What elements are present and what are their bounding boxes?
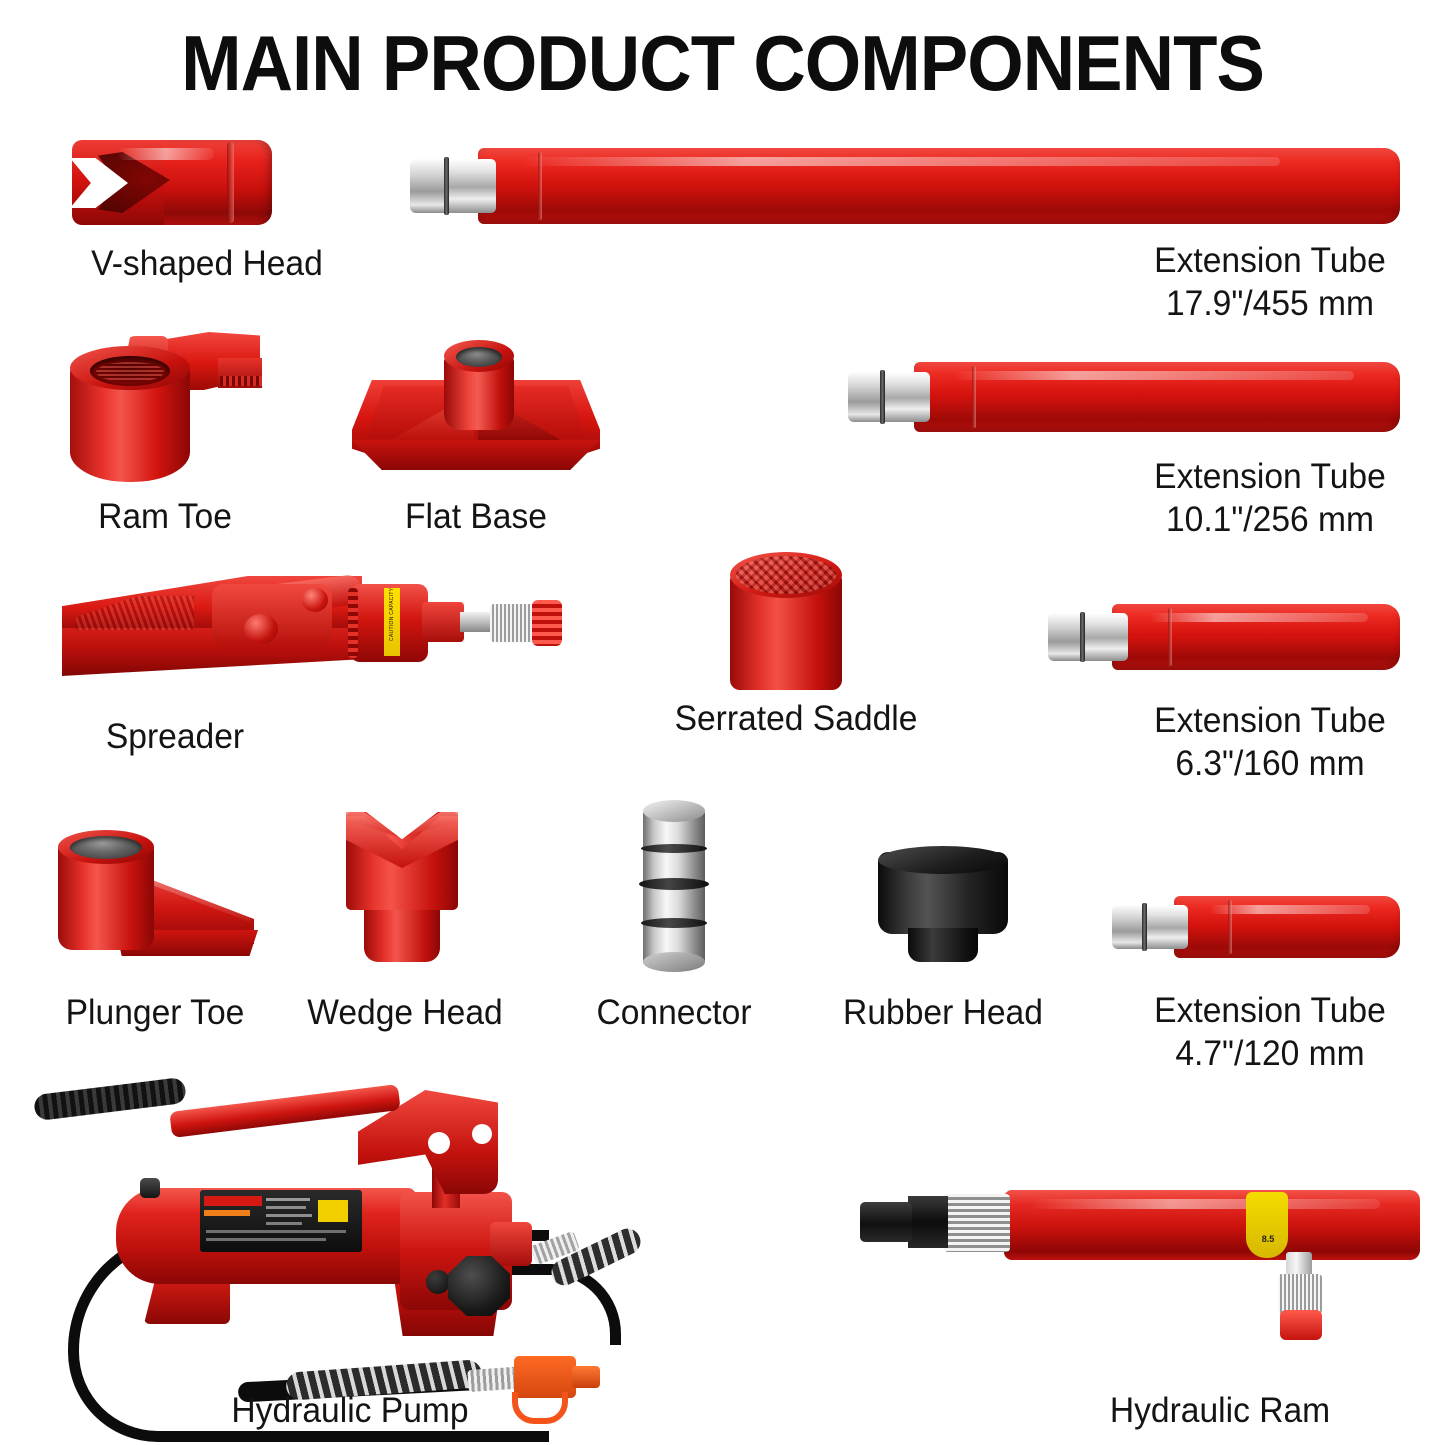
spreader-image: CAUTION CAPACITY [62, 570, 582, 690]
pump-fill-cap [140, 1178, 160, 1198]
ram-toe-serration [220, 376, 262, 386]
pump-coupler-tip [572, 1366, 600, 1388]
tube2-gloss [954, 371, 1354, 380]
ram-threaded-collar [944, 1194, 1010, 1252]
label-wedge-head: Wedge Head [290, 992, 520, 1035]
pump-label-orange-bar [204, 1210, 250, 1216]
label-extension-tube-1: Extension Tube 17.9"/455 mm [1116, 240, 1423, 325]
infographic-canvas: MAIN PRODUCT COMPONENTS V-shaped Head Ra… [0, 0, 1445, 1445]
flat-base-bore [456, 347, 502, 367]
pump-yoke-hole-1 [428, 1132, 450, 1154]
spreader-neck [422, 602, 464, 642]
rubber-head-stem [908, 928, 978, 962]
tube4-chrome-cap [1112, 905, 1144, 950]
plunger-toe-bore [70, 836, 142, 859]
ram-gloss [1030, 1199, 1380, 1209]
tube3-chrome-seam [1080, 612, 1085, 662]
label-hydraulic-ram: Hydraulic Ram [1038, 1390, 1403, 1433]
v-shaped-head-image [72, 140, 272, 225]
ram-tip [860, 1202, 912, 1242]
label-plunger-toe: Plunger Toe [35, 992, 275, 1035]
tube1-chrome-seam [444, 157, 449, 215]
wedge-head-stub [364, 904, 440, 962]
ram-piston-rod [908, 1196, 948, 1248]
extension-tube-3-image [1048, 604, 1400, 670]
pump-yoke-hole-2 [472, 1124, 492, 1144]
connector-image [643, 800, 705, 972]
tube2-chrome-seam [880, 370, 885, 423]
ram-toe-threads [96, 362, 164, 382]
label-extension-tube-4: Extension Tube 4.7"/120 mm [1116, 990, 1423, 1075]
connector-band-1 [641, 844, 707, 853]
extension-tube-1-image [410, 148, 1400, 224]
extension-tube-4-image [1112, 896, 1400, 958]
tube1-chrome-cap [410, 159, 446, 214]
spreader-pin-upper [302, 588, 328, 612]
tube1-seam [538, 152, 542, 220]
plunger-toe-image [58, 830, 254, 960]
pump-label-line-5 [206, 1230, 346, 1233]
connector-top-cap [643, 800, 705, 822]
pump-release-pin [426, 1270, 450, 1294]
spreader-coupler-stem [460, 612, 494, 632]
label-ram-toe: Ram Toe [40, 496, 290, 539]
connector-band-3 [641, 918, 707, 928]
label-extension-tube-2: Extension Tube 10.1"/256 mm [1116, 456, 1423, 541]
ram-capacity-label [1246, 1192, 1288, 1258]
pump-label-red-bar [204, 1196, 262, 1206]
spreader-cylinder-rings [348, 588, 358, 658]
spreader-red-cap [532, 600, 562, 646]
label-extension-tube-3: Extension Tube 6.3"/160 mm [1116, 700, 1423, 785]
v-head-highlight [118, 148, 214, 160]
label-spreader: Spreader [45, 716, 304, 759]
pump-label-yellow-box [318, 1200, 348, 1222]
spreader-pin-lower [244, 614, 278, 644]
ram-toe-image [70, 332, 270, 482]
extension-tube-2-image [848, 362, 1400, 432]
hydraulic-pump-image [28, 1080, 648, 1380]
connector-band-2 [639, 878, 709, 890]
pump-label-line-4 [266, 1222, 302, 1225]
label-serrated-saddle: Serrated Saddle [642, 698, 949, 741]
rubber-head-image [878, 846, 1008, 964]
ram-capacity-text: 8.5 [1248, 1234, 1288, 1244]
tube4-gloss [1210, 905, 1370, 914]
wedge-head-image [340, 812, 464, 962]
label-flat-base: Flat Base [351, 496, 601, 539]
ram-knurled-collar [1278, 1274, 1322, 1314]
ram-red-cap [1280, 1310, 1322, 1340]
v-head-seam [227, 142, 234, 223]
tube2-seam [972, 366, 976, 428]
pump-label-line-6 [206, 1238, 326, 1241]
tube1-gloss [520, 157, 1280, 166]
pump-outlet-nose [490, 1222, 532, 1266]
flat-base-image [352, 336, 600, 478]
tube3-chrome-cap [1048, 613, 1082, 661]
tube4-chrome-seam [1142, 903, 1147, 950]
spreader-knurled-collar [490, 604, 536, 642]
connector-bottom-cap [643, 952, 705, 972]
flat-base-skirt [352, 440, 600, 470]
spreader-warning-text: CAUTION CAPACITY [389, 589, 395, 641]
pump-label-line-3 [266, 1214, 312, 1217]
label-rubber-head: Rubber Head [823, 992, 1063, 1035]
spreader-warning-label: CAUTION CAPACITY [384, 588, 400, 656]
pump-label-line-2 [266, 1206, 306, 1209]
hydraulic-ram-image: 8.5 [860, 1190, 1420, 1350]
tube3-gloss [1150, 613, 1368, 622]
pump-handle-grip [33, 1077, 187, 1121]
pump-product-label [200, 1190, 362, 1252]
saddle-serration-grid [736, 556, 836, 594]
label-v-shaped-head: V-shaped Head [68, 243, 346, 286]
label-hydraulic-pump: Hydraulic Pump [168, 1390, 533, 1433]
serrated-saddle-image [730, 552, 842, 690]
label-connector: Connector [559, 992, 789, 1035]
tube3-seam [1168, 608, 1172, 666]
pump-label-line-1 [266, 1198, 310, 1201]
tube2-chrome-cap [848, 372, 882, 422]
tube4-seam [1228, 900, 1232, 954]
rubber-head-top [878, 846, 1008, 874]
page-title: MAIN PRODUCT COMPONENTS [51, 18, 1395, 109]
